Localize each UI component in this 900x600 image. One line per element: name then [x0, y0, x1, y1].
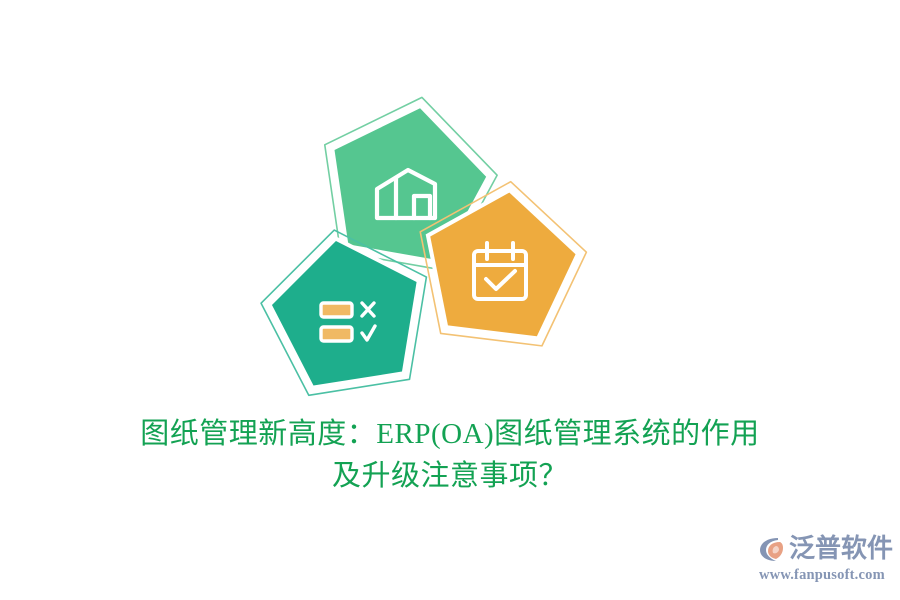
brand-url: www.fanpusoft.com	[757, 566, 893, 584]
checklist-bar-1	[321, 303, 352, 317]
poster-canvas: 图纸管理新高度：ERP(OA)图纸管理系统的作用 及升级注意事项？ 泛普软件 w…	[0, 0, 900, 600]
three-pentagon-cluster	[260, 95, 590, 405]
brand-lockup: 泛普软件	[757, 532, 893, 566]
brand-name: 泛普软件	[789, 534, 893, 564]
brand-watermark: 泛普软件 www.fanpusoft.com	[757, 532, 893, 590]
fanpu-logo-icon	[757, 534, 787, 564]
checklist-bar-2	[321, 327, 352, 341]
page-title: 图纸管理新高度：ERP(OA)图纸管理系统的作用 及升级注意事项？	[0, 413, 900, 497]
